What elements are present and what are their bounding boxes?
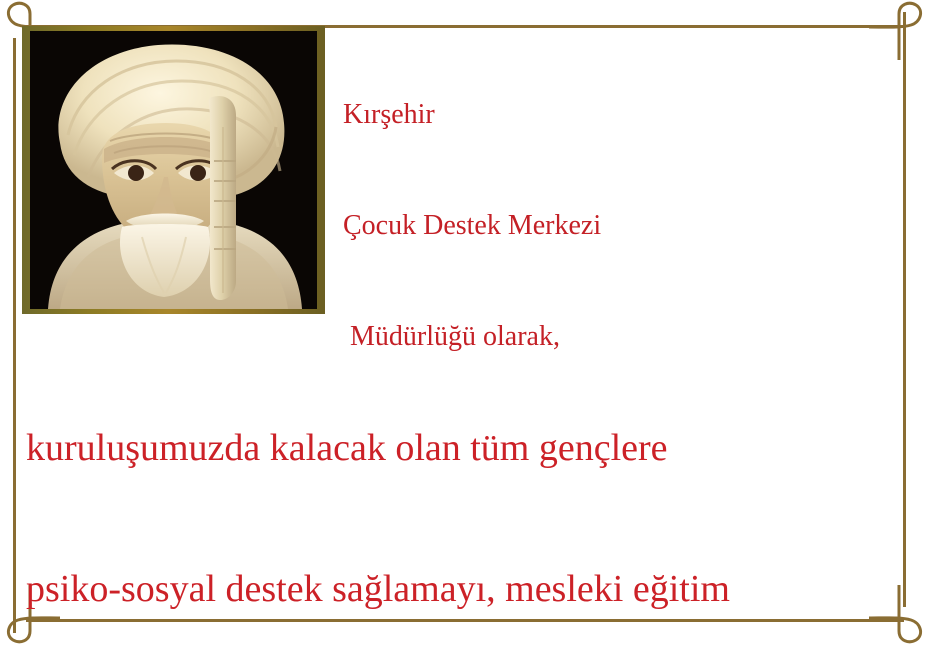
portrait-image xyxy=(30,31,317,309)
heading-line-2: Çocuk Destek Merkezi xyxy=(343,207,888,244)
frame-border-left xyxy=(13,38,16,633)
slide-canvas: Kırşehir Çocuk Destek Merkezi Müdürlüğü … xyxy=(0,0,929,645)
body-text: kuruluşumuzda kalacak olan tüm gençlere … xyxy=(26,331,906,645)
body-line-1: kuruluşumuzda kalacak olan tüm gençlere xyxy=(26,425,906,472)
body-line-2: psiko-sosyal destek sağlamayı, mesleki e… xyxy=(26,566,906,613)
portrait-frame xyxy=(22,26,325,314)
heading-line-1: Kırşehir xyxy=(343,96,888,133)
